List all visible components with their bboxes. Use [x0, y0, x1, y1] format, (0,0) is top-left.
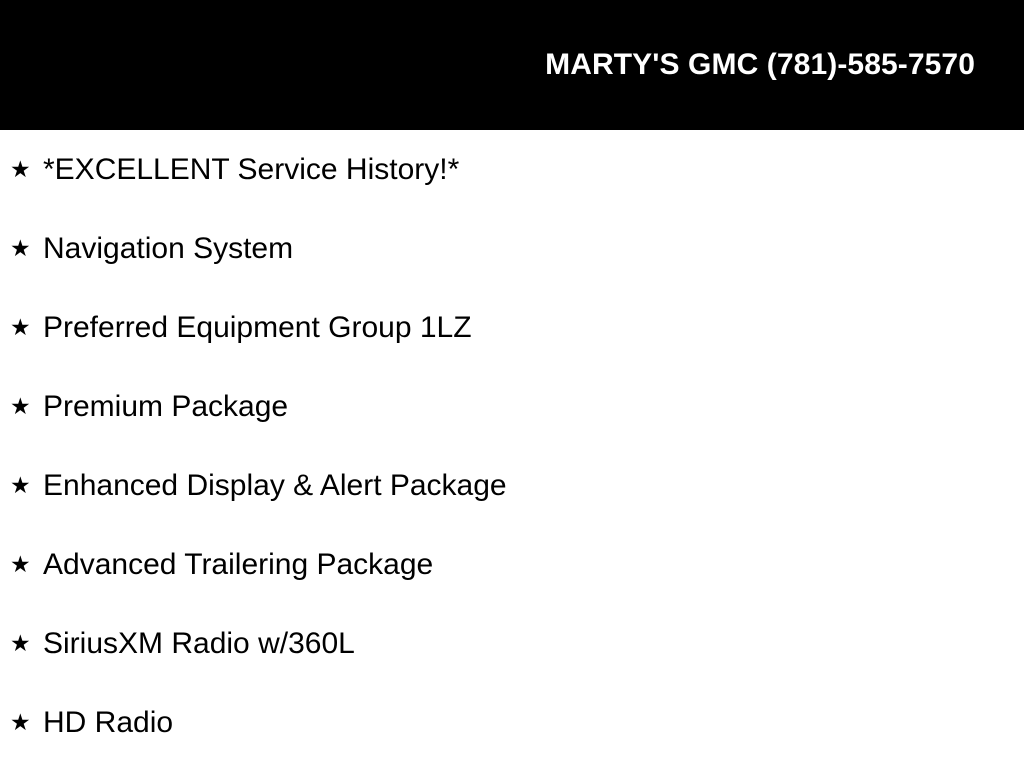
star-icon: ★ [10, 313, 32, 343]
list-item: ★ *EXCELLENT Service History!* [0, 130, 1024, 209]
feature-label: Enhanced Display & Alert Package [32, 470, 507, 502]
feature-label: SiriusXM Radio w/360L [32, 628, 355, 660]
feature-label: HD Radio [32, 707, 173, 739]
star-icon: ★ [10, 155, 32, 185]
feature-label: Preferred Equipment Group 1LZ [32, 312, 472, 344]
star-icon: ★ [10, 629, 32, 659]
feature-label: *EXCELLENT Service History!* [32, 154, 459, 186]
vehicle-features-page: MARTY'S GMC (781)-585-7570 ★ *EXCELLENT … [0, 0, 1024, 768]
dealer-header-bar: MARTY'S GMC (781)-585-7570 [0, 0, 1024, 130]
star-icon: ★ [10, 234, 32, 264]
star-icon: ★ [10, 550, 32, 580]
feature-label: Advanced Trailering Package [32, 549, 433, 581]
list-item: ★ SiriusXM Radio w/360L [0, 604, 1024, 683]
list-item: ★ Enhanced Display & Alert Package [0, 446, 1024, 525]
feature-label: Navigation System [32, 233, 293, 265]
list-item: ★ Preferred Equipment Group 1LZ [0, 288, 1024, 367]
list-item: ★ Navigation System [0, 209, 1024, 288]
feature-label: Premium Package [32, 391, 288, 423]
star-icon: ★ [10, 392, 32, 422]
list-item: ★ Premium Package [0, 367, 1024, 446]
star-icon: ★ [10, 708, 32, 738]
dealer-name-and-phone: MARTY'S GMC (781)-585-7570 [545, 50, 975, 80]
star-icon: ★ [10, 471, 32, 501]
list-item: ★ HD Radio [0, 683, 1024, 762]
list-item: ★ Advanced Trailering Package [0, 525, 1024, 604]
vehicle-features-list: ★ *EXCELLENT Service History!* ★ Navigat… [0, 130, 1024, 762]
